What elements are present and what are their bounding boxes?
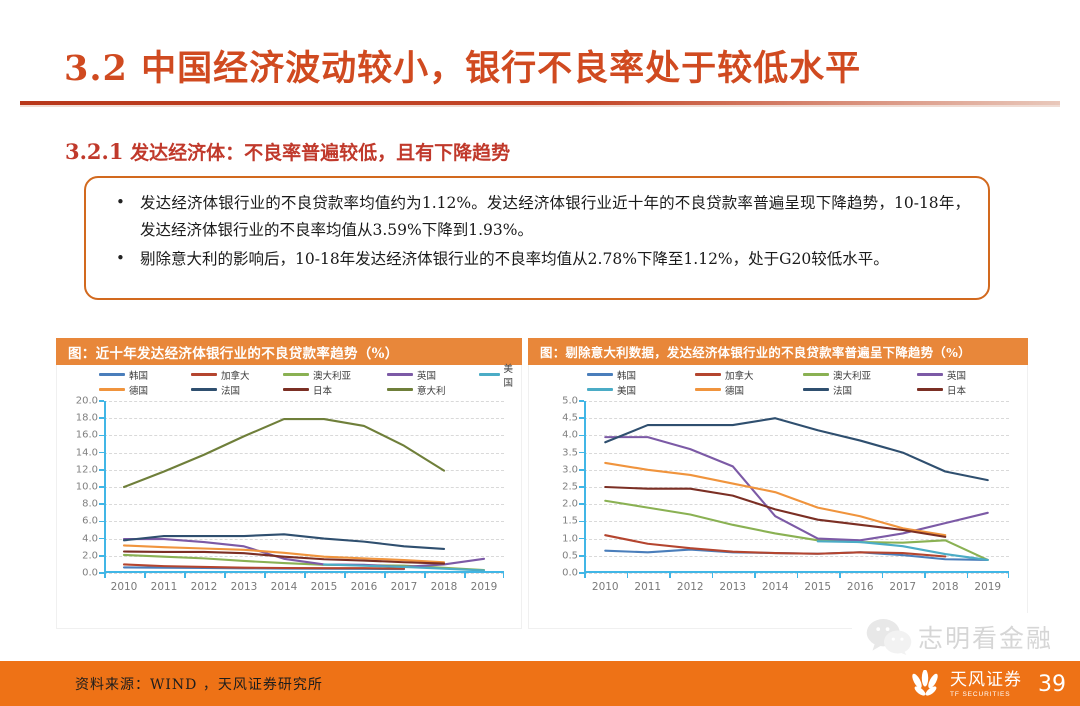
legend-label: 美国	[504, 361, 519, 389]
y-axis-tick-label: 4.5	[562, 413, 578, 424]
legend-item-法国[interactable]: 法国	[191, 383, 240, 397]
legend-row: 美国德国法国日本	[565, 382, 990, 397]
x-axis-tick-label: 2010	[111, 581, 138, 593]
brand-name-en: TF SECURITIES	[950, 692, 1022, 699]
legend-label: 意大利	[417, 383, 446, 397]
chart-plot-left: 0.02.04.06.08.010.012.014.016.018.020.02…	[104, 401, 504, 573]
legend-swatch-icon	[803, 373, 829, 376]
legend-swatch-icon	[803, 388, 829, 391]
x-axis-tick-label: 2014	[271, 581, 298, 593]
brand-logo: 天风证券 TF SECURITIES	[909, 670, 1022, 700]
brand-name-cn: 天风证券	[950, 672, 1022, 689]
brand-text: 天风证券 TF SECURITIES	[950, 672, 1022, 699]
wechat-icon	[866, 618, 912, 656]
legend-item-加拿大[interactable]: 加拿大	[695, 368, 754, 382]
legend-item-韩国[interactable]: 韩国	[587, 368, 636, 382]
x-axis-tick-mark	[464, 573, 466, 578]
legend-item-德国[interactable]: 德国	[99, 383, 148, 397]
legend-swatch-icon	[191, 388, 217, 391]
x-axis-tick-mark	[967, 573, 969, 578]
y-axis-tick-label: 1.0	[562, 533, 578, 544]
legend-item-韩国[interactable]: 韩国	[99, 368, 148, 382]
y-axis-tick-label: 6.0	[82, 516, 98, 527]
legend-swatch-icon	[99, 388, 125, 391]
legend-swatch-icon	[917, 373, 943, 376]
legend-item-法国[interactable]: 法国	[803, 383, 852, 397]
x-axis-tick-label: 2016	[351, 581, 378, 593]
legend-item-德国[interactable]: 德国	[695, 383, 744, 397]
x-axis-tick-mark	[144, 573, 146, 578]
legend-label: 澳大利亚	[833, 368, 871, 382]
legend-label: 加拿大	[221, 368, 250, 382]
x-axis-tick-label: 2011	[634, 581, 661, 593]
y-axis-tick-label: 2.0	[82, 550, 98, 561]
y-axis-tick-label: 0.0	[562, 568, 578, 579]
summary-callout-box: 发达经济体银行业的不良贷款率均值约为1.12%。发达经济体银行业近十年的不良贷款…	[84, 176, 990, 300]
chart-title-right: 图：剔除意大利数据，发达经济体银行业的不良贷款率普遍呈下降趋势（%）	[528, 338, 1028, 365]
x-axis-tick-label: 2014	[762, 581, 789, 593]
series-line-日本	[605, 487, 945, 537]
legend-label: 德国	[129, 383, 148, 397]
series-line-意大利	[124, 419, 444, 487]
legend-label: 英国	[947, 368, 966, 382]
section-subheading-text: 发达经济体：不良率普遍较低，且有下降趋势	[130, 142, 510, 164]
x-axis-tick-mark	[669, 573, 671, 578]
y-axis-tick-label: 12.0	[76, 464, 98, 475]
x-axis-tick-mark	[384, 573, 386, 578]
chart-legend-right: 韩国加拿大澳大利亚英国美国德国法国日本	[565, 367, 990, 397]
legend-item-英国[interactable]: 英国	[917, 368, 966, 382]
x-axis-tick-mark	[754, 573, 756, 578]
x-axis-tick-mark	[344, 573, 346, 578]
y-axis-tick-label: 3.5	[562, 447, 578, 458]
y-axis-tick-label: 14.0	[76, 447, 98, 458]
legend-swatch-icon	[283, 388, 309, 391]
x-axis-tick-label: 2015	[804, 581, 831, 593]
x-axis-tick-mark	[503, 573, 505, 578]
series-line-德国	[605, 463, 945, 535]
legend-label: 法国	[833, 383, 852, 397]
legend-swatch-icon	[283, 373, 309, 376]
legend-label: 英国	[417, 368, 436, 382]
chart-body-left: 韩国加拿大澳大利亚英国美国德国法国日本意大利 0.02.04.06.08.010…	[56, 365, 522, 629]
x-axis-tick-label: 2015	[311, 581, 338, 593]
x-axis-tick-mark	[184, 573, 186, 578]
page-title: 3.2 中国经济波动较小，银行不良率处于较低水平	[64, 40, 1014, 91]
x-axis-tick-mark	[882, 573, 884, 578]
x-axis-tick-label: 2013	[231, 581, 258, 593]
legend-swatch-icon	[587, 388, 613, 391]
legend-swatch-icon	[695, 373, 721, 376]
y-axis-tick-label: 8.0	[82, 499, 98, 510]
y-axis-tick-label: 2.0	[562, 499, 578, 510]
y-axis-tick-label: 1.5	[562, 516, 578, 527]
x-axis-tick-label: 2012	[191, 581, 218, 593]
legend-swatch-icon	[917, 388, 943, 391]
legend-label: 加拿大	[725, 368, 754, 382]
title-divider-secondary	[20, 105, 1060, 107]
chart-plot-right: 0.00.51.01.52.02.53.03.54.04.55.02010201…	[584, 401, 1009, 573]
legend-swatch-icon	[387, 388, 413, 391]
legend-label: 韩国	[129, 368, 148, 382]
legend-row: 韩国加拿大澳大利亚英国	[565, 367, 990, 382]
x-axis-tick-mark	[104, 573, 106, 578]
list-item: 发达经济体银行业的不良贷款率均值约为1.12%。发达经济体银行业近十年的不良贷款…	[100, 190, 970, 244]
x-axis-tick-label: 2013	[719, 581, 746, 593]
legend-item-美国[interactable]: 美国	[587, 383, 636, 397]
y-axis-tick-label: 10.0	[76, 482, 98, 493]
legend-item-加拿大[interactable]: 加拿大	[191, 368, 250, 382]
legend-swatch-icon	[387, 373, 413, 376]
legend-swatch-icon	[479, 373, 500, 376]
x-axis-tick-mark	[839, 573, 841, 578]
x-axis-tick-label: 2019	[471, 581, 498, 593]
x-axis-tick-label: 2011	[151, 581, 178, 593]
chart-body-right: 韩国加拿大澳大利亚英国美国德国法国日本 0.00.51.01.52.02.53.…	[528, 365, 1028, 629]
series-line-美国	[818, 541, 988, 560]
list-item: 剔除意大利的影响后，10-18年发达经济体银行业的不良率均值从2.78%下降至1…	[100, 246, 970, 273]
legend-swatch-icon	[695, 388, 721, 391]
chart-series-layer	[104, 401, 504, 573]
x-axis-tick-mark	[224, 573, 226, 578]
wechat-promo-block: 志明看金融	[852, 613, 1080, 661]
slide-root: 3.2 中国经济波动较小，银行不良率处于较低水平 3.2.1 发达经济体：不良率…	[0, 0, 1080, 706]
wechat-account-name: 志明看金融	[918, 619, 1053, 655]
chart-panel-right: 图：剔除意大利数据，发达经济体银行业的不良贷款率普遍呈下降趋势（%） 韩国加拿大…	[528, 338, 1028, 628]
x-axis-tick-label: 2017	[391, 581, 418, 593]
section-subheading: 3.2.1 发达经济体：不良率普遍较低，且有下降趋势	[65, 138, 510, 165]
legend-row: 德国法国日本意大利	[87, 382, 487, 397]
legend-label: 澳大利亚	[313, 368, 351, 382]
slide-footer: 资料来源：WIND ，天风证券研究所 天风证券 TF SECURITIES 39	[0, 661, 1080, 706]
x-axis-tick-mark	[264, 573, 266, 578]
x-axis-tick-label: 2010	[592, 581, 619, 593]
x-axis-tick-label: 2019	[974, 581, 1001, 593]
x-axis-tick-label: 2018	[932, 581, 959, 593]
x-axis-tick-mark	[627, 573, 629, 578]
y-axis-tick-label: 4.0	[82, 533, 98, 544]
legend-item-意大利[interactable]: 意大利	[387, 383, 446, 397]
y-axis-tick-label: 0.5	[562, 550, 578, 561]
x-axis-tick-mark	[1008, 573, 1010, 578]
legend-label: 美国	[617, 383, 636, 397]
x-axis-tick-mark	[712, 573, 714, 578]
summary-bullet-list: 发达经济体银行业的不良贷款率均值约为1.12%。发达经济体银行业近十年的不良贷款…	[100, 190, 970, 273]
x-axis-tick-label: 2016	[847, 581, 874, 593]
x-axis-tick-label: 2017	[889, 581, 916, 593]
legend-label: 韩国	[617, 368, 636, 382]
y-axis-tick-label: 3.0	[562, 464, 578, 475]
legend-label: 法国	[221, 383, 240, 397]
x-axis-tick-label: 2018	[431, 581, 458, 593]
chart-title-left: 图：近十年发达经济体银行业的不良贷款率趋势（%）	[56, 338, 522, 365]
legend-item-澳大利亚[interactable]: 澳大利亚	[283, 368, 351, 382]
legend-item-日本[interactable]: 日本	[917, 383, 966, 397]
legend-label: 日本	[313, 383, 332, 397]
legend-swatch-icon	[99, 373, 125, 376]
x-axis-tick-mark	[424, 573, 426, 578]
y-axis-tick-label: 20.0	[76, 396, 98, 407]
legend-item-澳大利亚[interactable]: 澳大利亚	[803, 368, 871, 382]
y-axis-tick-label: 0.0	[82, 568, 98, 579]
legend-item-英国[interactable]: 英国	[387, 368, 436, 382]
source-note: 资料来源：WIND ，天风证券研究所	[75, 674, 323, 694]
section-number: 3.2.1	[65, 139, 123, 164]
tf-securities-mark-icon	[909, 670, 943, 700]
y-axis-tick-label: 16.0	[76, 430, 98, 441]
chart-legend-left: 韩国加拿大澳大利亚英国美国德国法国日本意大利	[87, 367, 487, 397]
chart-panel-left: 图：近十年发达经济体银行业的不良贷款率趋势（%） 韩国加拿大澳大利亚英国美国德国…	[56, 338, 522, 628]
chart-series-layer	[584, 401, 1009, 573]
x-axis-tick-mark	[797, 573, 799, 578]
y-axis-tick-label: 18.0	[76, 413, 98, 424]
legend-swatch-icon	[587, 373, 613, 376]
legend-item-日本[interactable]: 日本	[283, 383, 332, 397]
y-axis-tick-label: 5.0	[562, 396, 578, 407]
x-axis-tick-mark	[304, 573, 306, 578]
page-number: 39	[1038, 672, 1066, 697]
legend-row: 韩国加拿大澳大利亚英国美国	[87, 367, 487, 382]
legend-label: 德国	[725, 383, 744, 397]
x-axis-tick-mark	[924, 573, 926, 578]
x-axis-tick-mark	[584, 573, 586, 578]
legend-swatch-icon	[191, 373, 217, 376]
legend-label: 日本	[947, 383, 966, 397]
x-axis-tick-label: 2012	[677, 581, 704, 593]
y-axis-tick-label: 2.5	[562, 482, 578, 493]
y-axis-tick-label: 4.0	[562, 430, 578, 441]
